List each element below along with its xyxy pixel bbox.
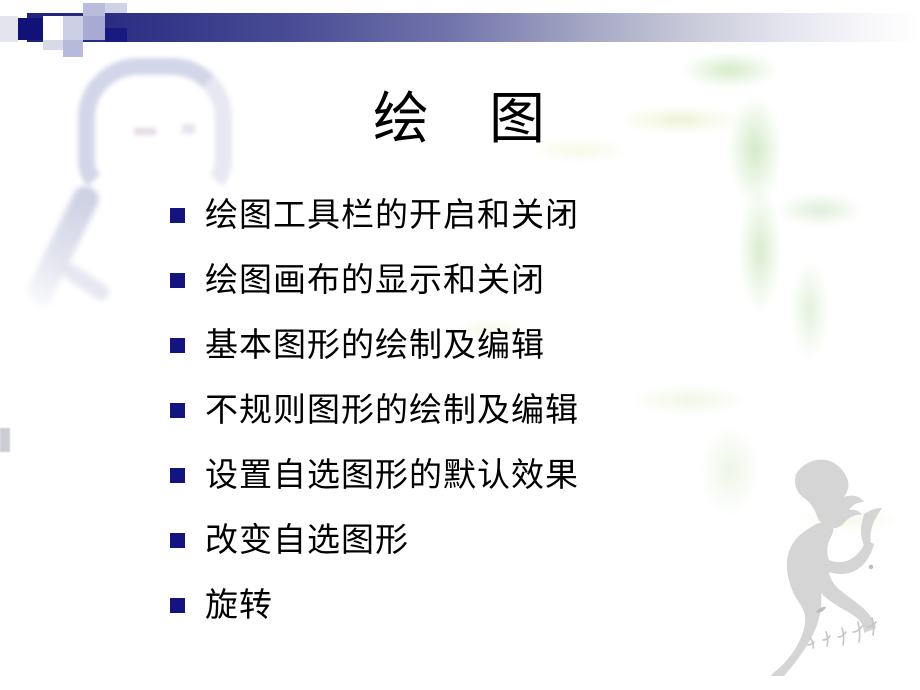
square-pale-1 — [0, 16, 18, 42]
list-item-label: 旋转 — [205, 586, 273, 626]
square-navy-small — [105, 28, 127, 42]
square-bullet-icon — [170, 533, 185, 548]
square-mid-blue — [63, 40, 83, 57]
list-item: 绘图工具栏的开启和关闭 — [170, 183, 810, 248]
square-bullet-icon — [170, 208, 185, 223]
bullet-list: 绘图工具栏的开启和关闭绘图画布的显示和关闭基本图形的绘制及编辑不规则图形的绘制及… — [170, 183, 810, 638]
square-pale-3 — [43, 40, 63, 50]
list-item-label: 绘图画布的显示和关闭 — [205, 261, 545, 301]
square-bullet-icon — [170, 468, 185, 483]
square-bullet-icon — [170, 598, 185, 613]
list-item: 旋转 — [170, 573, 810, 638]
list-item: 绘图画布的显示和关闭 — [170, 248, 810, 313]
list-item: 基本图形的绘制及编辑 — [170, 313, 810, 378]
square-light-blue-2 — [83, 3, 105, 17]
square-light-blue-3 — [83, 16, 105, 40]
square-dark-navy — [18, 18, 43, 40]
list-item: 改变自选图形 — [170, 508, 810, 573]
square-bullet-icon — [170, 273, 185, 288]
list-item-label: 不规则图形的绘制及编辑 — [205, 391, 579, 431]
square-bullet-icon — [170, 338, 185, 353]
list-item-label: 改变自选图形 — [205, 521, 409, 561]
square-pale-4 — [105, 3, 127, 13]
list-item: 不规则图形的绘制及编辑 — [170, 378, 810, 443]
top-banner — [0, 0, 920, 58]
square-pale-2 — [43, 16, 63, 40]
page-title: 绘 图 — [0, 88, 920, 152]
edge-mark-watermark — [0, 428, 10, 452]
square-bullet-icon — [170, 403, 185, 418]
presentation-slide: 绘 图 绘图工具栏的开启和关闭绘图画布的显示和关闭基本图形的绘制及编辑不规则图形… — [0, 0, 920, 690]
brush-stroke-tail — [60, 261, 112, 303]
list-item: 设置自选图形的默认效果 — [170, 443, 810, 508]
brush-stroke-shape — [23, 182, 102, 308]
list-item-label: 绘图工具栏的开启和关闭 — [205, 196, 579, 236]
list-item-label: 基本图形的绘制及编辑 — [205, 326, 545, 366]
square-light-blue-1 — [63, 16, 83, 40]
banner-gradient-bar — [27, 13, 920, 42]
list-item-label: 设置自选图形的默认效果 — [205, 456, 579, 496]
brush-stroke-watermark — [58, 188, 178, 323]
